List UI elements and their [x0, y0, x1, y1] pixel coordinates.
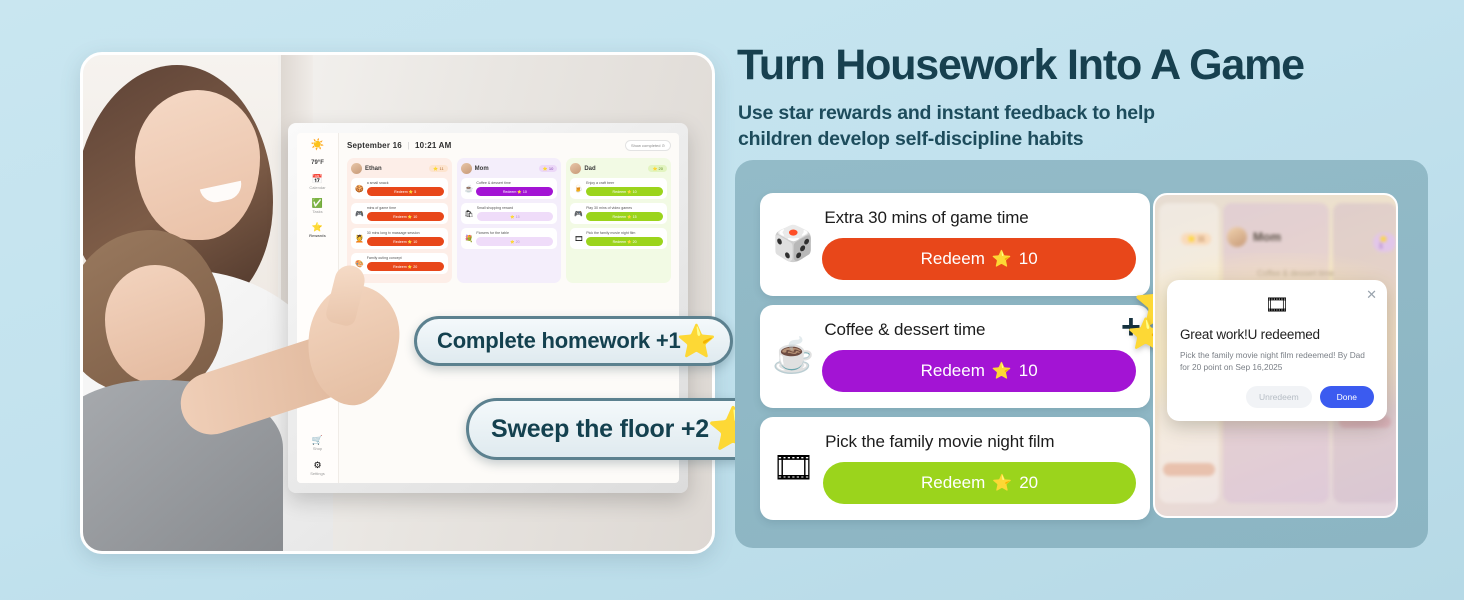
dialog-body: Pick the family movie night film redeeme…	[1180, 349, 1374, 374]
lifestyle-photo: ☀️ 79°F 📅 Calendar ✅ Tasks ⭐ Rewards 🛒	[80, 52, 715, 554]
redeem-points: ⭐ 20	[408, 265, 417, 269]
flowers-icon: 💐	[465, 235, 474, 243]
star-badge: ⭐ 11	[429, 165, 447, 172]
task-card[interactable]: 🍺 Enjoy a craft beer Redeem ⭐ 10	[570, 178, 667, 199]
right-content: Turn Housework Into A Game Use star rewa…	[735, 0, 1435, 600]
child-face	[105, 265, 205, 383]
snack-icon: 🍪	[355, 185, 364, 193]
app-screen-mock: ⭐ 11 ⭐ 1 Mom Coffee & dessert time ✕ 🎞 G…	[1153, 193, 1398, 518]
show-completed-toggle[interactable]: Show completed ⊙	[625, 140, 671, 151]
subtitle-line-1: Use star rewards and instant feedback to…	[738, 100, 1155, 126]
game-icon: 🎮	[355, 210, 364, 218]
redeem-points: ⭐ 5	[409, 190, 416, 194]
redeem-label: Redeem	[921, 249, 985, 269]
redeem-button[interactable]: Redeem ⭐ 10	[367, 237, 444, 246]
redeem-points: ⭐ 10	[408, 240, 417, 244]
redeem-label: Redeem	[613, 240, 627, 244]
redeem-button[interactable]: Redeem ⭐ 20	[367, 262, 444, 271]
task-card[interactable]: 🎮 mins of game time Redeem ⭐ 10	[351, 203, 448, 224]
star-icon: ⭐	[992, 249, 1012, 269]
redeem-button[interactable]: ⭐ 15	[477, 212, 554, 221]
redeem-confirmation-dialog: ✕ 🎞 Great work!U redeemed Pick the famil…	[1167, 280, 1387, 421]
task-title: Enjoy a craft beer	[586, 181, 663, 185]
redeem-points: 20	[1019, 473, 1038, 493]
dice-icon: 🎲	[772, 227, 814, 261]
callout-text: Complete homework +1	[437, 328, 681, 354]
reward-card: 🎞 Pick the family movie night film Redee…	[760, 417, 1150, 520]
redeem-button[interactable]: Redeem ⭐ 10	[822, 238, 1136, 280]
task-card[interactable]: 🎨 Family outing concept Redeem ⭐ 20	[351, 253, 448, 274]
callout-complete-homework: Complete homework +1 ⭐	[414, 316, 733, 366]
redeem-label: Redeem	[613, 190, 627, 194]
star-badge: ⭐ 10	[539, 165, 558, 172]
redeem-points: ⭐ 10	[517, 190, 526, 194]
task-card[interactable]: 🎮 Play 30 mins of video games Redeem ⭐ 1…	[570, 203, 667, 224]
redeem-label: Redeem	[613, 215, 627, 219]
redeem-points: ⭐ 10	[408, 215, 417, 219]
avatar	[570, 163, 581, 174]
star-badge: ⭐ 20	[648, 165, 667, 172]
reward-title: Pick the family movie night film	[823, 432, 1136, 452]
redeem-button[interactable]: Redeem ⭐ 20	[823, 462, 1136, 504]
task-title: 30 mins long tv massage session	[367, 231, 444, 235]
rewards-star-icon: ⭐	[312, 223, 323, 232]
reward-card-list: 🎲 Extra 30 mins of game time Redeem ⭐ 10…	[760, 193, 1150, 520]
dialog-actions: Unredeem Done	[1180, 386, 1374, 408]
page-title: Turn Housework Into A Game	[737, 44, 1304, 87]
member-name: Dad	[584, 166, 645, 172]
redeem-button[interactable]: Redeem ⭐ 10	[586, 187, 663, 196]
redeem-points: ⭐ 10	[627, 190, 636, 194]
film-strip-icon: 🎞	[772, 451, 815, 485]
sidebar-label-settings: Settings	[310, 471, 324, 476]
callout-text: Sweep the floor +2	[491, 415, 709, 444]
sidebar-item-tasks[interactable]: ✅ Tasks	[300, 199, 335, 214]
shopping-icon: 🛍	[465, 210, 474, 218]
sidebar-item-calendar[interactable]: 📅 Calendar	[300, 175, 335, 190]
tasks-check-icon: ✅	[312, 199, 323, 208]
page-subtitle: Use star rewards and instant feedback to…	[738, 100, 1155, 153]
redeem-button[interactable]: Redeem ⭐ 10	[367, 212, 444, 221]
datetime-separator: |	[407, 141, 409, 150]
redeem-button[interactable]: ⭐ 20	[476, 237, 553, 246]
sidebar-item-rewards[interactable]: ⭐ Rewards	[300, 223, 335, 238]
task-title: Family outing concept	[367, 256, 444, 260]
coffee-cup-icon: ☕	[465, 185, 474, 193]
show-completed-label: Show completed	[631, 143, 661, 148]
task-title: Pick the family movie night film	[586, 231, 663, 235]
tablet-columns: Ethan ⭐ 11 🍪 a small snack Redeem ⭐ 5	[347, 158, 671, 283]
member-header: Mom ⭐ 10	[461, 163, 558, 174]
mock-task-bar	[1163, 463, 1215, 476]
reward-title: Coffee & dessert time	[822, 320, 1136, 340]
unredeem-button[interactable]: Unredeem	[1246, 386, 1312, 408]
task-title: Flowers for the table	[476, 231, 553, 235]
sidebar-label-shop: Shop	[313, 446, 322, 451]
member-column-mom: Mom ⭐ 10 ☕ Coffee & dessert time Redeem …	[457, 158, 562, 283]
tablet-time: 10:21 AM	[415, 141, 451, 150]
star-icon: ⭐	[992, 361, 1012, 381]
redeem-points: ⭐ 20	[510, 240, 519, 244]
task-card[interactable]: 🛍 Small shopping reward ⭐ 15	[461, 203, 558, 224]
star-icon: ⭐	[992, 473, 1012, 493]
reward-card: ☕ Coffee & dessert time Redeem ⭐ 10	[760, 305, 1150, 408]
sidebar-item-shop[interactable]: 🛒 Shop	[310, 436, 324, 451]
redeem-button[interactable]: Redeem ⭐ 15	[586, 212, 663, 221]
member-header: Ethan ⭐ 11	[351, 163, 448, 174]
task-title: Small shopping reward	[477, 206, 554, 210]
mother-face	[135, 90, 260, 240]
mock-star-badge-right: ⭐ 1	[1373, 233, 1396, 252]
redeem-points: 10	[1019, 361, 1038, 381]
task-title: mins of game time	[367, 206, 444, 210]
chevron-down-icon: ⊙	[662, 143, 665, 148]
redeem-button[interactable]: Redeem ⭐ 5	[367, 187, 444, 196]
subtitle-line-2: children develop self-discipline habits	[738, 126, 1155, 152]
film-strip-icon: 🎞	[574, 235, 583, 243]
reward-card: 🎲 Extra 30 mins of game time Redeem ⭐ 10	[760, 193, 1150, 296]
calendar-icon: 📅	[312, 175, 323, 184]
task-title: Coffee & dessert time	[476, 181, 553, 185]
redeem-label: Redeem	[393, 265, 407, 269]
coffee-cup-icon: ☕	[772, 339, 814, 373]
tablet-header: September 16 | 10:21 AM Show completed ⊙	[347, 140, 671, 151]
task-title: Play 30 mins of video games	[586, 206, 663, 210]
mock-star-badge-left: ⭐ 11	[1181, 233, 1211, 245]
sidebar-item-settings[interactable]: ⚙ Settings	[310, 461, 324, 476]
redeem-label: Redeem	[921, 361, 985, 381]
redeem-label: Redeem	[393, 240, 407, 244]
temperature-label: 79°F	[311, 160, 324, 166]
star-icon: ⭐	[677, 325, 717, 357]
redeem-button[interactable]: Redeem ⭐ 10	[476, 187, 553, 196]
tablet-datetime: September 16 | 10:21 AM	[347, 141, 451, 150]
redeem-label: Redeem	[503, 190, 517, 194]
task-title: a small snack	[367, 181, 444, 185]
reward-title: Extra 30 mins of game time	[822, 208, 1136, 228]
avatar	[1227, 227, 1247, 247]
massage-icon: 💆	[355, 235, 364, 243]
task-card[interactable]: 🍪 a small snack Redeem ⭐ 5	[351, 178, 448, 199]
close-icon[interactable]: ✕	[1366, 288, 1377, 301]
gear-icon: ⚙	[313, 461, 321, 470]
redeem-label: Redeem	[921, 473, 985, 493]
redeem-button[interactable]: Redeem ⭐ 10	[822, 350, 1136, 392]
film-strip-icon: 🎞	[1180, 296, 1374, 315]
tablet-date: September 16	[347, 141, 402, 150]
videogame-icon: 🎮	[574, 210, 583, 218]
dialog-title: Great work!U redeemed	[1180, 327, 1374, 342]
weather-icon: ☀️	[311, 140, 325, 151]
callout-sweep-floor: Sweep the floor +2 ⭐	[466, 398, 778, 460]
member-column-ethan: Ethan ⭐ 11 🍪 a small snack Redeem ⭐ 5	[347, 158, 452, 283]
task-card[interactable]: ☕ Coffee & dessert time Redeem ⭐ 10	[461, 178, 558, 199]
redeem-button[interactable]: Redeem ⭐ 20	[586, 237, 663, 246]
beer-icon: 🍺	[574, 185, 583, 193]
done-button[interactable]: Done	[1320, 386, 1374, 408]
redeem-label: Redeem	[393, 215, 407, 219]
sidebar-label-calendar: Calendar	[309, 185, 325, 190]
tablet-sidebar-bottom: 🛒 Shop ⚙ Settings	[310, 436, 324, 476]
member-name: Mom	[475, 166, 536, 172]
sidebar-label-tasks: Tasks	[312, 209, 322, 214]
redeem-label: Redeem	[394, 190, 408, 194]
mock-member-name: Mom	[1253, 230, 1281, 244]
redeem-points: ⭐ 15	[510, 215, 519, 219]
sidebar-label-rewards: Rewards	[309, 233, 326, 238]
redeem-points: ⭐ 15	[627, 215, 636, 219]
member-header: Dad ⭐ 20	[570, 163, 667, 174]
task-card[interactable]: 🎞 Pick the family movie night film Redee…	[570, 228, 667, 249]
shop-icon: 🛒	[312, 436, 323, 445]
avatar	[351, 163, 362, 174]
task-card[interactable]: 💐 Flowers for the table ⭐ 20	[461, 228, 558, 249]
redeem-points: ⭐ 20	[627, 240, 636, 244]
feature-panel: 🎲 Extra 30 mins of game time Redeem ⭐ 10…	[735, 160, 1428, 548]
member-name: Ethan	[365, 166, 426, 172]
redeem-points: 10	[1019, 249, 1038, 269]
task-card[interactable]: 💆 30 mins long tv massage session Redeem…	[351, 228, 448, 249]
avatar	[461, 163, 472, 174]
member-column-dad: Dad ⭐ 20 🍺 Enjoy a craft beer Redeem ⭐ 1…	[566, 158, 671, 283]
